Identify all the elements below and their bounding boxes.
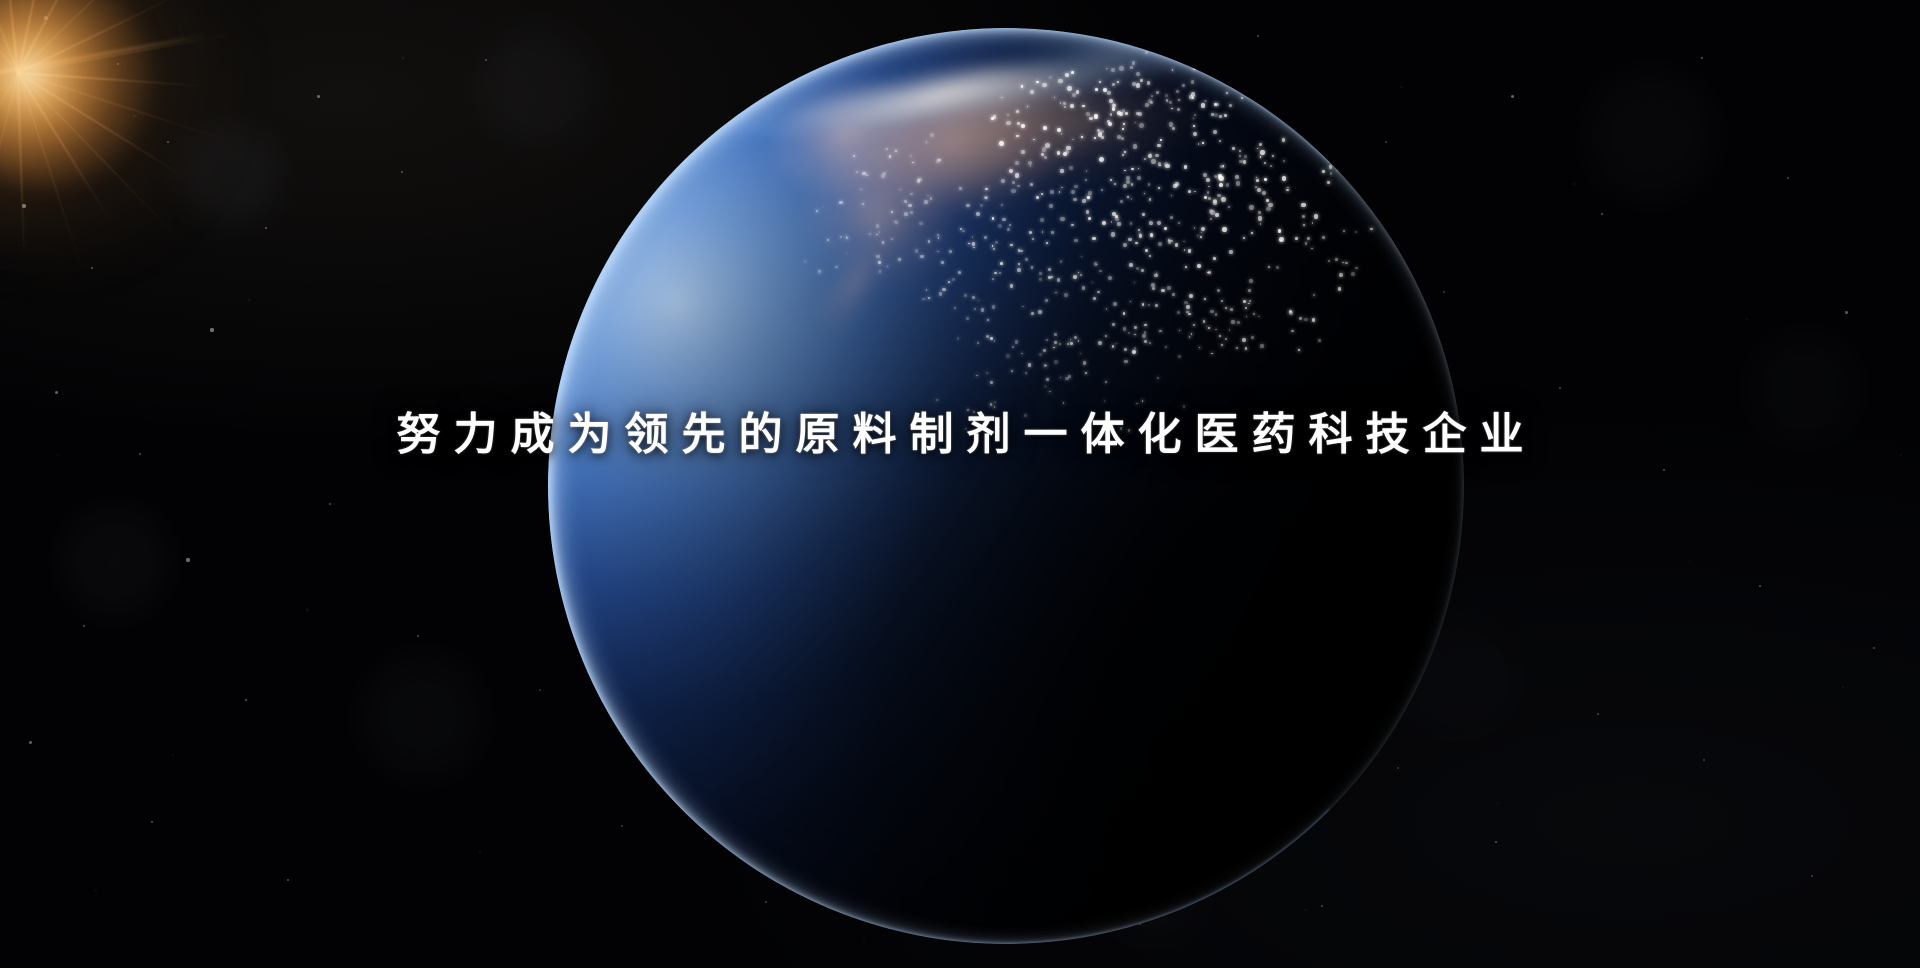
city-light	[1330, 153, 1333, 156]
city-light	[1347, 166, 1350, 169]
limb-edge-highlight	[548, 28, 1464, 944]
city-light	[1214, 42, 1216, 44]
city-light	[1302, 99, 1303, 100]
city-light	[1234, 45, 1236, 47]
city-light	[1331, 130, 1334, 133]
globe-sphere	[548, 28, 1464, 944]
city-light	[1226, 46, 1230, 50]
city-light	[1283, 116, 1285, 118]
city-light	[1267, 97, 1271, 101]
city-light	[1355, 120, 1357, 122]
city-light	[1236, 75, 1238, 77]
city-light	[1302, 131, 1305, 134]
earth-globe	[548, 28, 1464, 944]
city-light	[1240, 84, 1244, 88]
hero-stage: 努力成为领先的原料制剂一体化医药科技企业	[0, 0, 1920, 968]
city-light	[1284, 114, 1286, 116]
city-light	[1275, 93, 1279, 97]
city-light	[1280, 97, 1282, 99]
hero-headline: 努力成为领先的原料制剂一体化医药科技企业	[0, 408, 1920, 462]
city-light	[1346, 119, 1349, 122]
city-light	[1298, 113, 1301, 116]
city-light	[1331, 118, 1335, 122]
city-light	[1293, 120, 1294, 121]
city-light	[1314, 100, 1318, 104]
city-light	[1239, 86, 1240, 87]
